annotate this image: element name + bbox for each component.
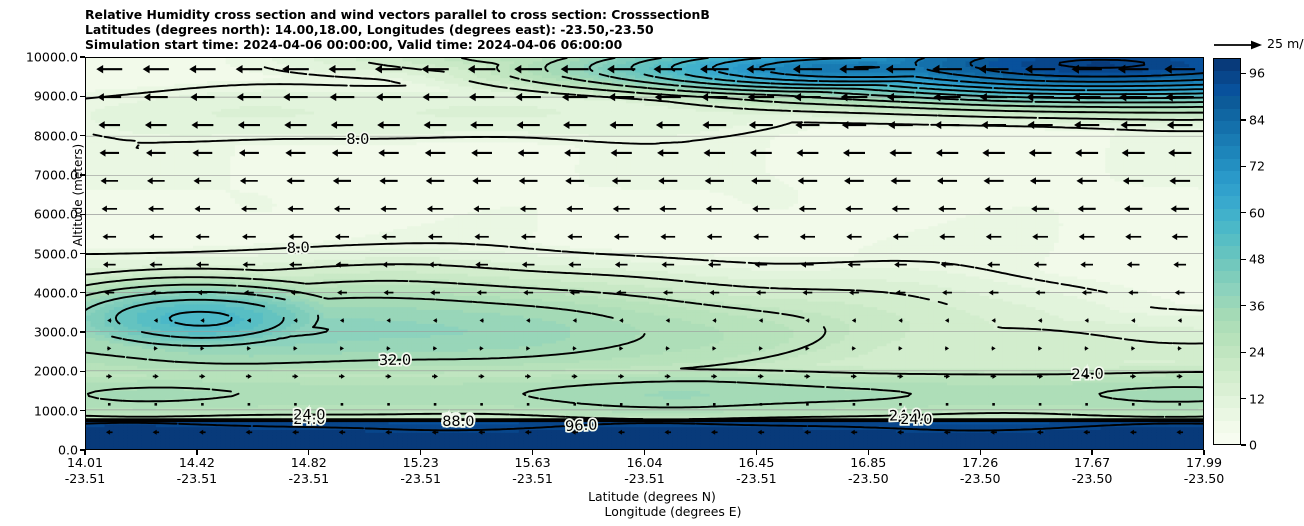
x-tick-group: 17.67-23.50	[1072, 455, 1113, 487]
x-tick-longitude: -23.51	[400, 471, 441, 487]
x-tick-longitude: -23.51	[288, 471, 329, 487]
title-line-3: Simulation start time: 2024-04-06 00:00:…	[85, 37, 1195, 52]
y-tick-label: 1000.0	[34, 403, 78, 418]
chart-title-block: Relative Humidity cross section and wind…	[85, 7, 1195, 53]
x-tick-longitude: -23.51	[177, 471, 218, 487]
x-tick-group: 17.99-23.50	[1184, 455, 1225, 487]
colorbar-tick-mark	[1241, 352, 1246, 353]
x-tick-group: 16.85-23.50	[848, 455, 889, 487]
colorbar-band	[1214, 421, 1240, 433]
y-tick-mark	[80, 135, 85, 136]
x-tick-longitude: -23.51	[65, 471, 106, 487]
x-tick-longitude: -23.50	[1184, 471, 1225, 487]
colorbar-band	[1214, 59, 1240, 71]
x-tick-longitude: -23.51	[512, 471, 553, 487]
title-line-1: Relative Humidity cross section and wind…	[85, 7, 1195, 22]
y-tick-mark	[80, 96, 85, 97]
x-tick-latitude: 14.42	[177, 455, 218, 471]
y-tick-mark	[80, 292, 85, 293]
cross-section-plot: 8.08.024.024.024.024.024.032.032.040.048…	[85, 57, 1204, 450]
colorbar-tick-mark	[1241, 398, 1246, 399]
colorbar-band	[1214, 383, 1240, 395]
x-tick-longitude: -23.51	[624, 471, 665, 487]
colorbar-band	[1214, 234, 1240, 246]
x-tick-latitude: 17.67	[1072, 455, 1113, 471]
x-tick-latitude: 16.04	[624, 455, 665, 471]
colorbar-band	[1214, 346, 1240, 358]
colorbar-ticks: 01224364860728496	[1241, 0, 1301, 526]
colorbar-tick-label: 48	[1249, 252, 1265, 267]
x-tick-latitude: 14.01	[65, 455, 106, 471]
x-tick-mark	[84, 450, 85, 455]
y-tick-mark	[80, 214, 85, 215]
y-tick-mark	[80, 410, 85, 411]
x-tick-group: 15.63-23.51	[512, 455, 553, 487]
y-tick-mark	[80, 56, 85, 57]
colorbar-tick-mark	[1241, 119, 1246, 120]
x-tick-longitude: -23.50	[1072, 471, 1113, 487]
colorbar-band	[1214, 271, 1240, 283]
x-tick-group: 17.26-23.50	[960, 455, 1001, 487]
x-tick-mark	[756, 450, 757, 455]
y-tick-mark	[80, 371, 85, 372]
colorbar-tick-mark	[1241, 259, 1246, 260]
x-axis-label-longitude: Longitude (degrees E)	[0, 504, 1304, 519]
x-tick-longitude: -23.50	[848, 471, 889, 487]
colorbar-band	[1214, 246, 1240, 258]
x-tick-mark	[868, 450, 869, 455]
colorbar-tick-mark	[1241, 73, 1246, 74]
x-tick-mark	[1203, 450, 1204, 455]
y-tick-mark	[80, 174, 85, 175]
x-tick-mark	[532, 450, 533, 455]
x-tick-mark	[644, 450, 645, 455]
y-tick-label: 3000.0	[34, 325, 78, 340]
x-tick-latitude: 17.26	[960, 455, 1001, 471]
x-tick-latitude: 15.23	[400, 455, 441, 471]
y-tick-mark	[80, 331, 85, 332]
colorbar-band	[1214, 396, 1240, 408]
x-tick-longitude: -23.51	[736, 471, 777, 487]
y-tick-mark	[80, 253, 85, 254]
colorbar	[1213, 58, 1241, 445]
colorbar-tick-label: 12	[1249, 391, 1265, 406]
x-tick-mark	[196, 450, 197, 455]
colorbar-band	[1214, 84, 1240, 96]
colorbar-band	[1214, 296, 1240, 308]
y-axis-tick-labels: 0.01000.02000.03000.04000.05000.06000.07…	[0, 0, 78, 526]
colorbar-tick-label: 24	[1249, 345, 1265, 360]
colorbar-tick-label: 0	[1249, 438, 1257, 453]
y-tick-label: 8000.0	[34, 128, 78, 143]
colorbar-band	[1214, 371, 1240, 383]
colorbar-band	[1214, 121, 1240, 133]
y-tick-label: 9000.0	[34, 89, 78, 104]
colorbar-band	[1214, 159, 1240, 171]
colorbar-tick-mark	[1241, 212, 1246, 213]
colorbar-band	[1214, 433, 1240, 445]
colorbar-band	[1214, 109, 1240, 121]
wind-vector-key: 25 m/s	[1212, 36, 1304, 56]
x-tick-group: 14.42-23.51	[177, 455, 218, 487]
wind-key-label: 25 m/s	[1267, 36, 1304, 51]
wind-vector-field	[86, 58, 1203, 449]
x-tick-mark	[420, 450, 421, 455]
colorbar-tick-label: 36	[1249, 298, 1265, 313]
x-tick-longitude: -23.50	[960, 471, 1001, 487]
colorbar-band	[1214, 171, 1240, 183]
x-tick-group: 16.04-23.51	[624, 455, 665, 487]
colorbar-tick-label: 60	[1249, 205, 1265, 220]
x-tick-group: 14.01-23.51	[65, 455, 106, 487]
colorbar-tick-mark	[1241, 305, 1246, 306]
y-tick-label: 2000.0	[34, 364, 78, 379]
right-arrow-icon	[1212, 36, 1264, 54]
y-tick-label: 10000.0	[26, 50, 78, 65]
colorbar-tick-mark	[1241, 444, 1246, 445]
x-tick-latitude: 15.63	[512, 455, 553, 471]
x-tick-mark	[308, 450, 309, 455]
colorbar-band	[1214, 259, 1240, 271]
colorbar-band	[1214, 358, 1240, 370]
colorbar-band	[1214, 333, 1240, 345]
y-tick-label: 5000.0	[34, 246, 78, 261]
colorbar-band	[1214, 96, 1240, 108]
colorbar-tick-label: 96	[1249, 66, 1265, 81]
colorbar-band	[1214, 196, 1240, 208]
colorbar-band	[1214, 184, 1240, 196]
y-tick-label: 6000.0	[34, 207, 78, 222]
x-tick-group: 16.45-23.51	[736, 455, 777, 487]
y-tick-label: 4000.0	[34, 285, 78, 300]
x-axis-label-block: Latitude (degrees N) Longitude (degrees …	[0, 489, 1304, 519]
x-tick-latitude: 16.45	[736, 455, 777, 471]
colorbar-band	[1214, 71, 1240, 83]
y-tick-label: 7000.0	[34, 167, 78, 182]
x-tick-mark	[980, 450, 981, 455]
colorbar-tick-label: 72	[1249, 159, 1265, 174]
colorbar-band	[1214, 321, 1240, 333]
colorbar-band	[1214, 146, 1240, 158]
x-tick-latitude: 14.82	[288, 455, 329, 471]
x-tick-group: 14.82-23.51	[288, 455, 329, 487]
x-axis-label-latitude: Latitude (degrees N)	[0, 489, 1304, 504]
x-tick-group: 15.23-23.51	[400, 455, 441, 487]
colorbar-band	[1214, 209, 1240, 221]
title-line-2: Latitudes (degrees north): 14.00,18.00, …	[85, 22, 1195, 37]
colorbar-tick-mark	[1241, 166, 1246, 167]
x-tick-mark	[1091, 450, 1092, 455]
colorbar-band	[1214, 408, 1240, 420]
x-tick-latitude: 17.99	[1184, 455, 1225, 471]
colorbar-band	[1214, 283, 1240, 295]
colorbar-tick-label: 84	[1249, 112, 1265, 127]
colorbar-band	[1214, 221, 1240, 233]
colorbar-band	[1214, 308, 1240, 320]
x-tick-latitude: 16.85	[848, 455, 889, 471]
colorbar-band	[1214, 134, 1240, 146]
